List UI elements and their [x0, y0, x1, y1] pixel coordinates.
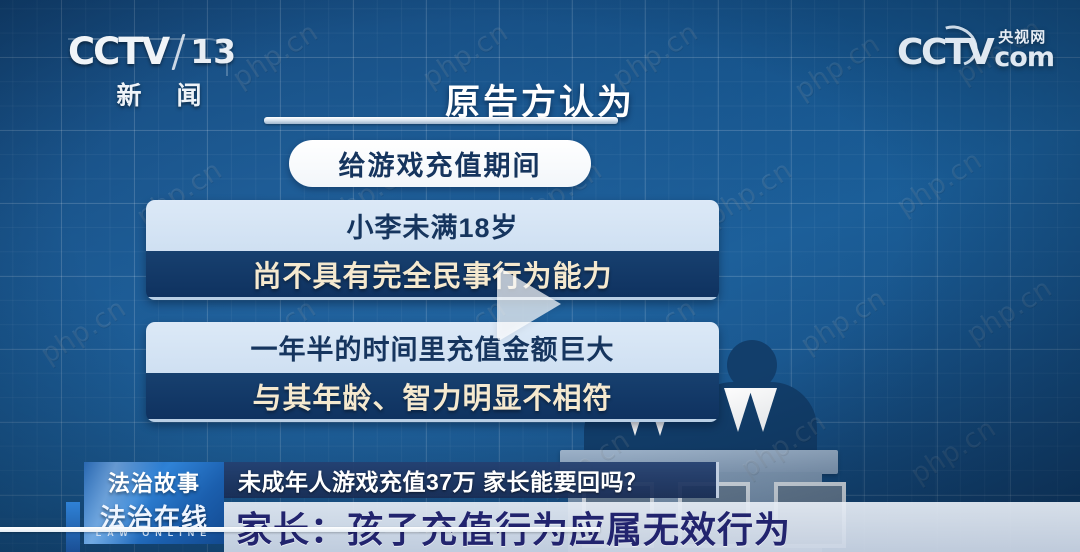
program-badge-top-label: 法治故事 [84, 466, 224, 498]
claim-card-2: 一年半的时间里充值金额巨大 与其年龄、智力明显不相符 [146, 322, 719, 422]
claim-card-1-light-row: 小李未满18岁 [146, 200, 719, 251]
person-collar-left [724, 388, 752, 432]
cctv-com-domain: com [994, 45, 1054, 71]
progress-bar-line[interactable] [0, 527, 600, 532]
claim-card-1: 小李未满18岁 尚不具有完全民事行为能力 [146, 200, 719, 300]
lower-third: 法治故事 法治在线 LAW ONLINE 未成年人游戏充值37万 家长能要回吗？… [0, 462, 1080, 552]
claim-card-1-light-text: 小李未满18岁 [346, 206, 518, 245]
title-divider [264, 117, 618, 124]
broadcast-screenshot: php.cn php.cn php.cn php.cn php.cn php.c… [0, 0, 1080, 552]
claim-card-1-dark-row: 尚不具有完全民事行为能力 [146, 251, 719, 300]
subject-pill-label: 给游戏充值期间 [339, 144, 542, 183]
logo-arc-icon [68, 38, 228, 76]
claim-card-2-dark-row: 与其年龄、智力明显不相符 [146, 373, 719, 422]
news-ticker-text: 未成年人游戏充值37万 家长能要回吗？ [224, 463, 647, 497]
claim-card-2-dark-text: 与其年龄、智力明显不相符 [252, 375, 612, 417]
subject-pill: 给游戏充值期间 [289, 140, 591, 187]
news-ticker: 未成年人游戏充值37万 家长能要回吗？ [224, 462, 719, 498]
play-triangle-icon[interactable] [497, 266, 561, 342]
claim-card-2-light-row: 一年半的时间里充值金额巨大 [146, 322, 719, 373]
person-collar-right [749, 388, 777, 432]
cctv-com-logo: CCTV 央视网 com [897, 30, 1054, 71]
